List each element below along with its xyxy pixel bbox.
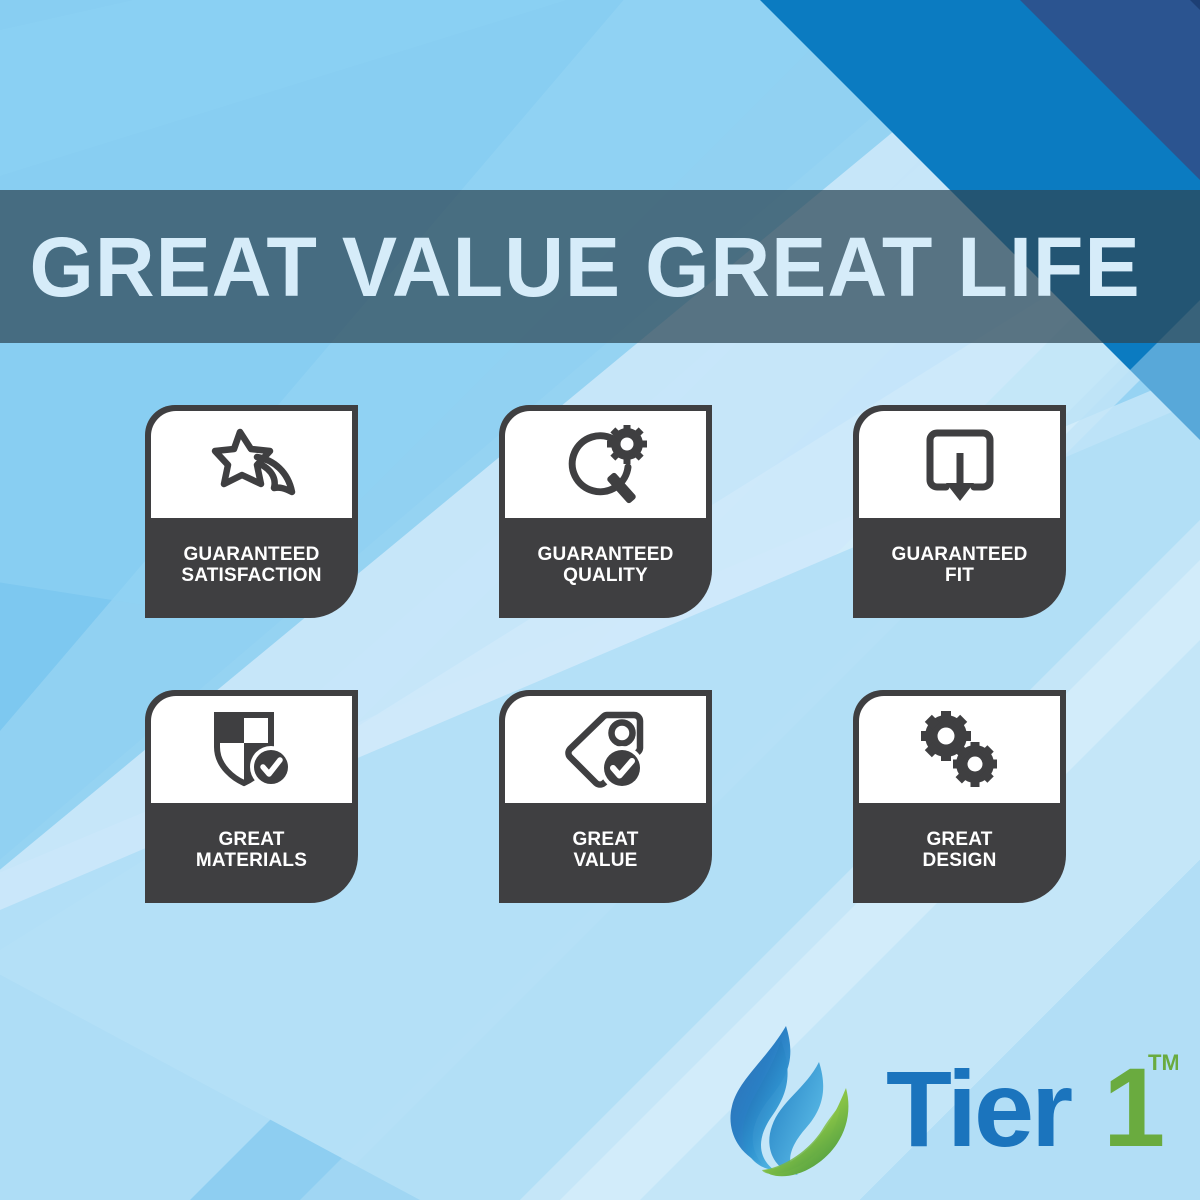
card-label-text: GREAT MATERIALS (196, 829, 307, 872)
card-label-area: GREAT VALUE (505, 803, 706, 903)
shield-check-icon (209, 709, 295, 791)
price-tag-check-icon (560, 709, 652, 791)
feature-card-guaranteed-satisfaction[interactable]: GUARANTEED SATISFACTION (145, 405, 358, 618)
logo-trademark: TM (1148, 1050, 1178, 1075)
card-icon-area (151, 696, 352, 803)
card-label-text: GREAT VALUE (572, 829, 638, 872)
card-label-area: GUARANTEED FIT (859, 518, 1060, 618)
feature-card-great-design[interactable]: GREAT DESIGN (853, 690, 1066, 903)
card-label-text: GREAT DESIGN (922, 829, 996, 872)
logo-wordmark-tier: Tier (886, 1048, 1072, 1169)
card-label-area: GREAT DESIGN (859, 803, 1060, 903)
card-label-area: GUARANTEED SATISFACTION (151, 518, 352, 618)
magnifier-gear-icon (558, 425, 654, 505)
feature-card-great-value[interactable]: GREAT VALUE (499, 690, 712, 903)
feature-card-great-materials[interactable]: GREAT MATERIALS (145, 690, 358, 903)
card-label-text: GUARANTEED FIT (891, 544, 1027, 587)
card-icon-area (505, 411, 706, 518)
headline-banner: GREAT VALUE GREAT LIFE (0, 190, 1200, 343)
shooting-star-icon (204, 426, 300, 504)
droplet-flame-mark (730, 1026, 848, 1176)
card-icon-area (859, 411, 1060, 518)
download-into-tray-icon (922, 425, 998, 505)
feature-card-grid: GUARANTEED SATISFACTION (145, 405, 1065, 903)
card-icon-area (151, 411, 352, 518)
poster-canvas: GREAT VALUE GREAT LIFE GUARANTEED SATISF… (0, 0, 1200, 1200)
card-label-area: GREAT MATERIALS (151, 803, 352, 903)
card-label-text: GUARANTEED SATISFACTION (181, 544, 321, 587)
tier1-logo[interactable]: Tier 1 TM (718, 1018, 1178, 1183)
feature-card-guaranteed-quality[interactable]: GUARANTEED QUALITY (499, 405, 712, 618)
card-label-area: GUARANTEED QUALITY (505, 518, 706, 618)
feature-card-guaranteed-fit[interactable]: GUARANTEED FIT (853, 405, 1066, 618)
card-icon-area (859, 696, 1060, 803)
card-label-text: GUARANTEED QUALITY (537, 544, 673, 587)
page-title: GREAT VALUE GREAT LIFE (0, 225, 1141, 309)
gears-icon (915, 709, 1005, 791)
card-icon-area (505, 696, 706, 803)
